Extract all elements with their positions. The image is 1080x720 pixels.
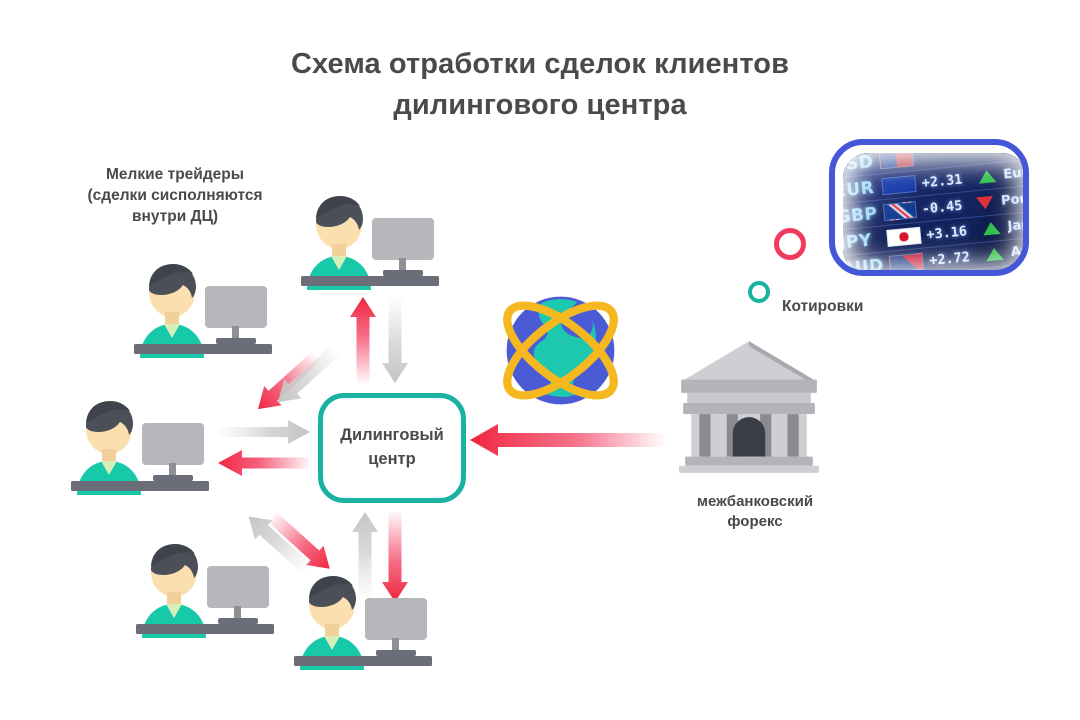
- trader-top[interactable]: [295, 190, 445, 295]
- flag-icon: [886, 227, 921, 247]
- flag-icon: [882, 201, 916, 221]
- dealing-center-node[interactable]: Дилинговый центр: [318, 393, 466, 503]
- arrow-left-out: [218, 420, 310, 444]
- quote-name: Can: [1013, 269, 1027, 274]
- flag-icon: [889, 253, 924, 273]
- quotes-label: Котировки: [782, 297, 942, 318]
- quote-value: [919, 153, 975, 157]
- flag-icon: [879, 153, 914, 169]
- arrow-top-in: [350, 297, 376, 383]
- traders-group-label: Мелкие трейдеры (сделки сисполняются вну…: [35, 165, 315, 228]
- page-title: Схема отработки сделок клиентов дилингов…: [190, 44, 890, 126]
- quote-name: Aust: [1010, 242, 1027, 260]
- globe-icon: [488, 278, 633, 423]
- quote-board-photo: USD EUR +2.31 Euro GBP -0.45: [843, 153, 1027, 274]
- quote-value: -0.45: [921, 196, 977, 217]
- trader-lower-left[interactable]: [130, 538, 280, 643]
- quote-name: Euro: [1003, 164, 1027, 182]
- quote-value: +3.16: [926, 221, 983, 242]
- interbank-forex-label: межбанковский форекс: [655, 492, 855, 533]
- quotes-bubble-large: [774, 228, 806, 260]
- quote-board[interactable]: USD EUR +2.31 Euro GBP -0.45: [829, 139, 1029, 276]
- quote-code: EUR: [843, 177, 883, 202]
- trader-upper-left[interactable]: [128, 258, 278, 363]
- traders-label-line-3: внутри ДЦ): [35, 207, 315, 228]
- quote-value: +2.72: [929, 247, 986, 268]
- dealing-center-line-2: центр: [340, 448, 444, 472]
- bank-icon[interactable]: [673, 335, 825, 477]
- trend-down-icon: [987, 272, 1007, 274]
- arrow-top-out: [382, 297, 408, 383]
- quote-value: +2.31: [921, 170, 978, 191]
- trend-up-icon: [984, 246, 1004, 263]
- diagram-canvas: Схема отработки сделок клиентов дилингов…: [0, 0, 1080, 720]
- quote-code: AUD: [843, 254, 890, 274]
- dealing-center-line-1: Дилинговый: [340, 424, 444, 448]
- arrow-bank-to-center: [470, 424, 666, 456]
- trader-middle-left[interactable]: [65, 395, 215, 500]
- quote-name: Japan: [1007, 216, 1027, 235]
- trend-up-icon: [977, 168, 997, 185]
- quote-code: GBP: [843, 203, 884, 228]
- forex-label-line-1: межбанковский: [655, 492, 855, 512]
- traders-label-line-2: (сделки сисполняются: [35, 186, 315, 207]
- traders-label-line-1: Мелкие трейдеры: [35, 165, 315, 186]
- trend-up-icon: [981, 220, 1001, 237]
- dealing-center-text: Дилинговый центр: [340, 424, 444, 472]
- quote-board-screen: USD EUR +2.31 Euro GBP -0.45: [843, 153, 1027, 274]
- quote-code: JPY: [843, 229, 888, 254]
- forex-label-line-2: форекс: [655, 512, 855, 532]
- quote-name: Pound: [1000, 190, 1027, 209]
- flag-icon: [881, 175, 916, 195]
- arrow-left-in: [218, 450, 310, 476]
- trader-bottom[interactable]: [288, 570, 438, 675]
- page-title-line-2: дилингового центра: [190, 85, 890, 126]
- trend-down-icon: [975, 195, 995, 212]
- page-title-line-1: Схема отработки сделок клиентов: [190, 44, 890, 85]
- quote-code: USD: [843, 153, 880, 176]
- quotes-bubble-small: [748, 281, 770, 303]
